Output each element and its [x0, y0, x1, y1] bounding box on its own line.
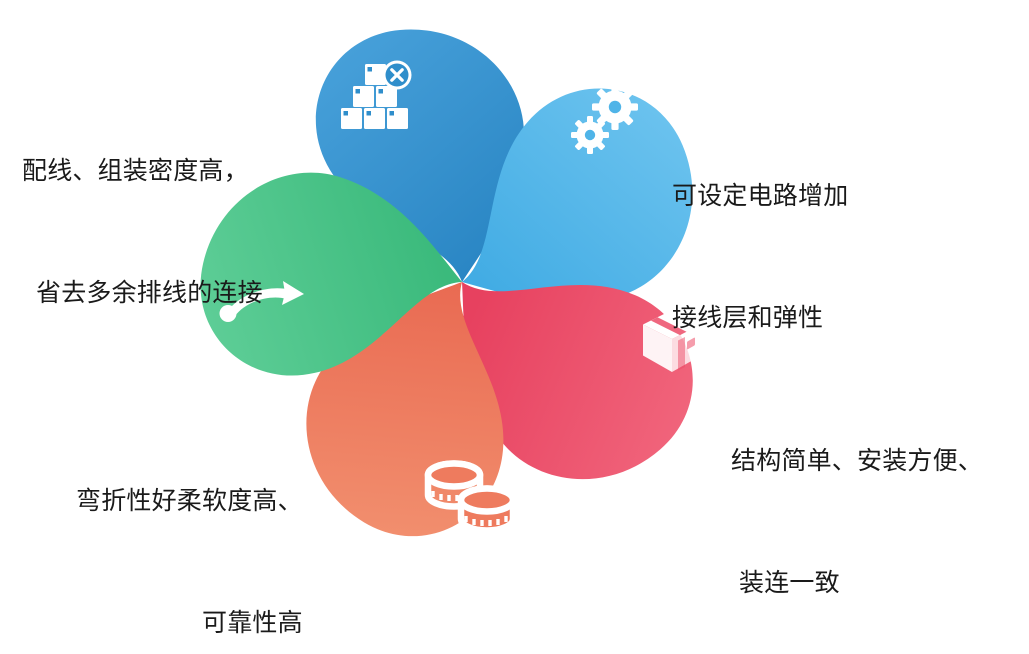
infographic-canvas: 配线、组装密度高， 省去多余排线的连接 可设定电路增加 接线层和弹性 结构简单、…	[0, 0, 1029, 654]
label-topleft-line2: 省去多余排线的连接	[22, 273, 263, 314]
label-topright-line1: 可设定电路增加	[672, 176, 848, 217]
label-topleft: 配线、组装密度高， 省去多余排线的连接	[22, 70, 263, 394]
label-right: 结构简单、安装方便、 装连一致	[731, 360, 983, 654]
label-right-line2: 装连一致	[731, 563, 983, 604]
label-left-line1: 弯折性好柔软度高、	[76, 481, 303, 522]
label-topright-line2: 接线层和弹性	[672, 298, 848, 339]
label-topleft-line1: 配线、组装密度高，	[22, 151, 263, 192]
label-bottom: 体积小、重量轻、厚度薄	[306, 583, 583, 654]
label-left: 弯折性好柔软度高、 可靠性高	[76, 400, 303, 654]
label-right-line1: 结构简单、安装方便、	[731, 441, 983, 482]
label-left-line2: 可靠性高	[76, 603, 303, 644]
